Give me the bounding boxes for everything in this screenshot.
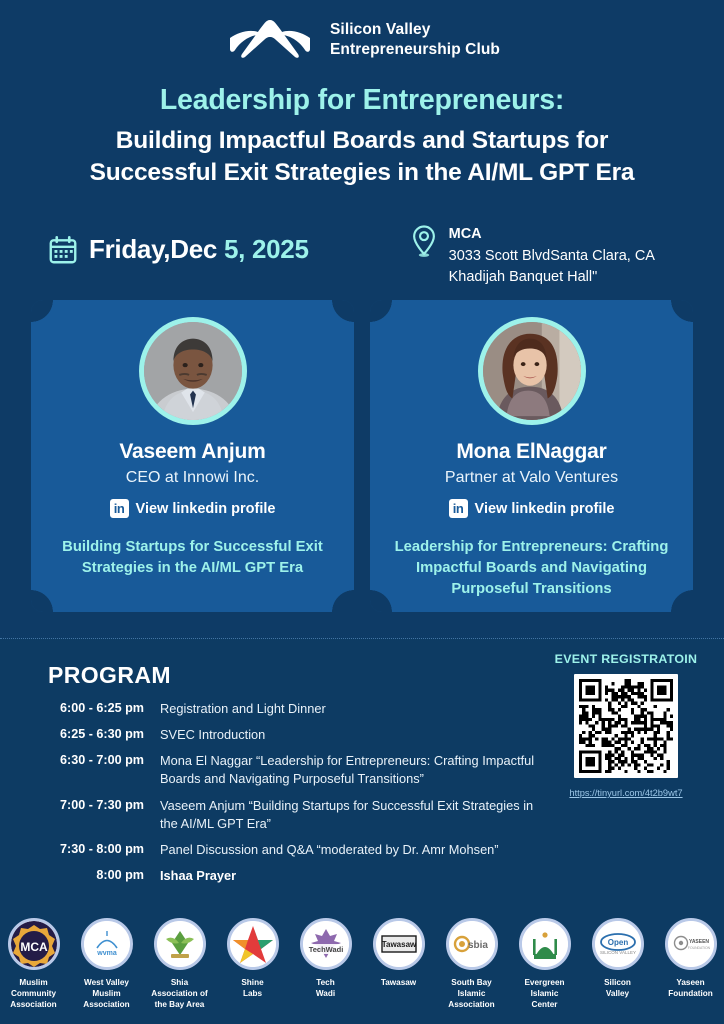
venue-name: MCA: [449, 224, 655, 245]
sponsor-caption: MuslimCommunityAssociation: [0, 978, 67, 1011]
venue-address-2: Khadijah Banquet Hall": [449, 267, 655, 288]
speaker-role: Partner at Valo Ventures: [370, 469, 693, 487]
agenda-time: 6:25 - 6:30 pm: [44, 726, 160, 744]
avatar: [478, 317, 586, 425]
sponsor-logos: MCAMuslimCommunityAssociationwvmaWest Va…: [0, 918, 724, 1011]
svg-text:TechWadi: TechWadi: [308, 945, 343, 954]
brand-line-1: Silicon Valley: [330, 20, 500, 40]
wvma-logo: wvma: [81, 918, 133, 970]
agenda-row: 6:30 - 7:00 pmMona El Naggar “Leadership…: [44, 752, 554, 788]
speaker-name: Vaseem Anjum: [31, 440, 354, 464]
agenda-time: 8:00 pm: [44, 867, 160, 885]
program-heading: PROGRAM: [48, 662, 171, 689]
agenda-row: 6:25 - 6:30 pmSVEC Introduction: [44, 726, 554, 744]
wvma-logo-icon: wvma: [84, 921, 130, 967]
speaker-talk-title: Leadership for Entrepreneurs: Crafting I…: [370, 537, 693, 600]
speaker-card-vaseem-anjum[interactable]: Vaseem Anjum CEO at Innowi Inc. in View …: [31, 300, 354, 612]
agenda-description: Vaseem Anjum “Building Startups for Succ…: [160, 797, 554, 833]
agenda-row: 8:00 pmIshaa Prayer: [44, 867, 554, 885]
speaker-role: CEO at Innowi Inc.: [31, 469, 354, 487]
qr-code-svg: [579, 679, 673, 773]
shine-labs-logo-icon: [230, 921, 276, 967]
sponsor-caption: EvergreenIslamicCenter: [511, 978, 578, 1011]
svg-text:YASEEN: YASEEN: [688, 939, 708, 945]
sponsor-item[interactable]: MCAMuslimCommunityAssociation: [0, 918, 67, 1011]
sponsor-caption: SiliconValley: [584, 978, 651, 1000]
event-poster: Silicon Valley Entrepreneurship Club Lea…: [0, 0, 724, 1024]
event-meta: Friday,Dec 5, 2025 MCA 3033 Scott BlvdSa…: [0, 224, 724, 288]
tawasaw-logo: Tawasaw: [373, 918, 425, 970]
svg-text:SILICON VALLEY: SILICON VALLEY: [600, 950, 636, 955]
brand-header: Silicon Valley Entrepreneurship Club: [0, 16, 724, 64]
shine-labs-logo: [227, 918, 279, 970]
subtitle-line-2: Successful Exit Strategies in the AI/ML …: [0, 157, 724, 190]
registration-title: EVENT REGISTRATOIN: [540, 652, 712, 666]
saba-logo-icon: [157, 921, 203, 967]
open-sv-logo: OpenSILICON VALLEY: [592, 918, 644, 970]
techwadi-logo: TechWadi: [300, 918, 352, 970]
evergreen-logo-icon: [522, 921, 568, 967]
svg-text:MCA: MCA: [20, 940, 48, 954]
agenda-description: Panel Discussion and Q&A “moderated by D…: [160, 841, 554, 859]
agenda-time: 6:30 - 7:00 pm: [44, 752, 160, 788]
mca-logo-icon: MCA: [11, 921, 57, 967]
linkedin-icon: in: [449, 499, 468, 518]
location-lines: MCA 3033 Scott BlvdSanta Clara, CA Khadi…: [449, 224, 655, 288]
brand-line-2: Entrepreneurship Club: [330, 40, 500, 60]
program-agenda: 6:00 - 6:25 pmRegistration and Light Din…: [44, 700, 554, 893]
yaseen-logo-icon: YASEENFOUNDATION: [668, 921, 714, 967]
mca-logo: MCA: [8, 918, 60, 970]
agenda-description: SVEC Introduction: [160, 726, 554, 744]
event-location: MCA 3033 Scott BlvdSanta Clara, CA Khadi…: [409, 224, 655, 288]
agenda-description: Ishaa Prayer: [160, 867, 554, 885]
registration-block: EVENT REGISTRATOIN https://tinyurl.com/4…: [540, 652, 712, 798]
svg-text:Open: Open: [607, 938, 628, 947]
linkedin-link[interactable]: in View linkedin profile: [31, 499, 354, 518]
svg-text:sbia: sbia: [467, 940, 487, 951]
agenda-row: 7:00 - 7:30 pmVaseem Anjum “Building Sta…: [44, 797, 554, 833]
event-date: Friday,Dec 5, 2025: [48, 234, 309, 265]
sponsor-item[interactable]: ShiaAssociation ofthe Bay Area: [146, 918, 213, 1011]
page-subtitle: Building Impactful Boards and Startups f…: [0, 125, 724, 190]
sponsor-item[interactable]: YASEENFOUNDATIONYaseenFoundation: [657, 918, 724, 1011]
speaker-portrait-mona-icon: [483, 322, 581, 420]
evergreen-logo: [519, 918, 571, 970]
sponsor-item[interactable]: TawasawTawasaw: [365, 918, 432, 1011]
speaker-cards: Vaseem Anjum CEO at Innowi Inc. in View …: [31, 300, 693, 612]
saba-logo: [154, 918, 206, 970]
sponsor-item[interactable]: ShineLabs: [219, 918, 286, 1011]
date-day: Friday,: [89, 234, 170, 264]
mountain-chevron-logo: [224, 16, 316, 64]
agenda-time: 6:00 - 6:25 pm: [44, 700, 160, 718]
date-month: Dec: [170, 234, 217, 264]
sponsor-item[interactable]: TechWadiTechWadi: [292, 918, 359, 1011]
avatar: [139, 317, 247, 425]
agenda-time: 7:30 - 8:00 pm: [44, 841, 160, 859]
sponsor-item[interactable]: EvergreenIslamicCenter: [511, 918, 578, 1011]
qr-code-icon[interactable]: [574, 674, 678, 778]
title-block: Leadership for Entrepreneurs: Building I…: [0, 84, 724, 190]
location-pin-icon: [409, 224, 439, 258]
sbia-logo: sbia: [446, 918, 498, 970]
svg-text:Tawasaw: Tawasaw: [381, 940, 416, 949]
sponsor-item[interactable]: OpenSILICON VALLEYSiliconValley: [584, 918, 651, 1011]
date-rest: 5, 2025: [224, 234, 309, 264]
brand-name: Silicon Valley Entrepreneurship Club: [330, 20, 500, 60]
speaker-name: Mona ElNaggar: [370, 440, 693, 464]
sponsor-item[interactable]: sbiaSouth BayIslamicAssociation: [438, 918, 505, 1011]
registration-url[interactable]: https://tinyurl.com/4t2b9wt7: [540, 788, 712, 798]
open-sv-logo-icon: OpenSILICON VALLEY: [595, 921, 641, 967]
venue-address-1: 3033 Scott BlvdSanta Clara, CA: [449, 246, 655, 267]
svg-text:wvma: wvma: [96, 950, 117, 957]
sponsor-caption: ShineLabs: [219, 978, 286, 1000]
sponsor-caption: ShiaAssociation ofthe Bay Area: [146, 978, 213, 1011]
techwadi-logo-icon: TechWadi: [303, 921, 349, 967]
sponsor-item[interactable]: wvmaWest ValleyMuslimAssociation: [73, 918, 140, 1011]
linkedin-label: View linkedin profile: [136, 501, 276, 517]
section-divider: [0, 638, 724, 639]
page-title: Leadership for Entrepreneurs:: [0, 84, 724, 118]
agenda-row: 6:00 - 6:25 pmRegistration and Light Din…: [44, 700, 554, 718]
sponsor-caption: YaseenFoundation: [657, 978, 724, 1000]
sponsor-caption: South BayIslamicAssociation: [438, 978, 505, 1011]
linkedin-label: View linkedin profile: [475, 501, 615, 517]
subtitle-line-1: Building Impactful Boards and Startups f…: [0, 125, 724, 158]
sponsor-caption: West ValleyMuslimAssociation: [73, 978, 140, 1011]
tawasaw-logo-icon: Tawasaw: [376, 921, 422, 967]
agenda-row: 7:30 - 8:00 pmPanel Discussion and Q&A “…: [44, 841, 554, 859]
calendar-icon: [48, 235, 78, 265]
yaseen-logo: YASEENFOUNDATION: [665, 918, 717, 970]
sponsor-caption: Tawasaw: [365, 978, 432, 989]
speaker-portrait-vaseem-icon: [144, 322, 242, 420]
agenda-time: 7:00 - 7:30 pm: [44, 797, 160, 833]
event-date-text: Friday,Dec 5, 2025: [89, 234, 309, 265]
sbia-logo-icon: sbia: [449, 921, 495, 967]
speaker-card-mona-elnaggar[interactable]: Mona ElNaggar Partner at Valo Ventures i…: [370, 300, 693, 612]
speaker-talk-title: Building Startups for Successful Exit St…: [31, 537, 354, 579]
svg-text:FOUNDATION: FOUNDATION: [687, 946, 710, 950]
linkedin-link[interactable]: in View linkedin profile: [370, 499, 693, 518]
agenda-description: Mona El Naggar “Leadership for Entrepren…: [160, 752, 554, 788]
linkedin-icon: in: [110, 499, 129, 518]
sponsor-caption: TechWadi: [292, 978, 359, 1000]
agenda-description: Registration and Light Dinner: [160, 700, 554, 718]
